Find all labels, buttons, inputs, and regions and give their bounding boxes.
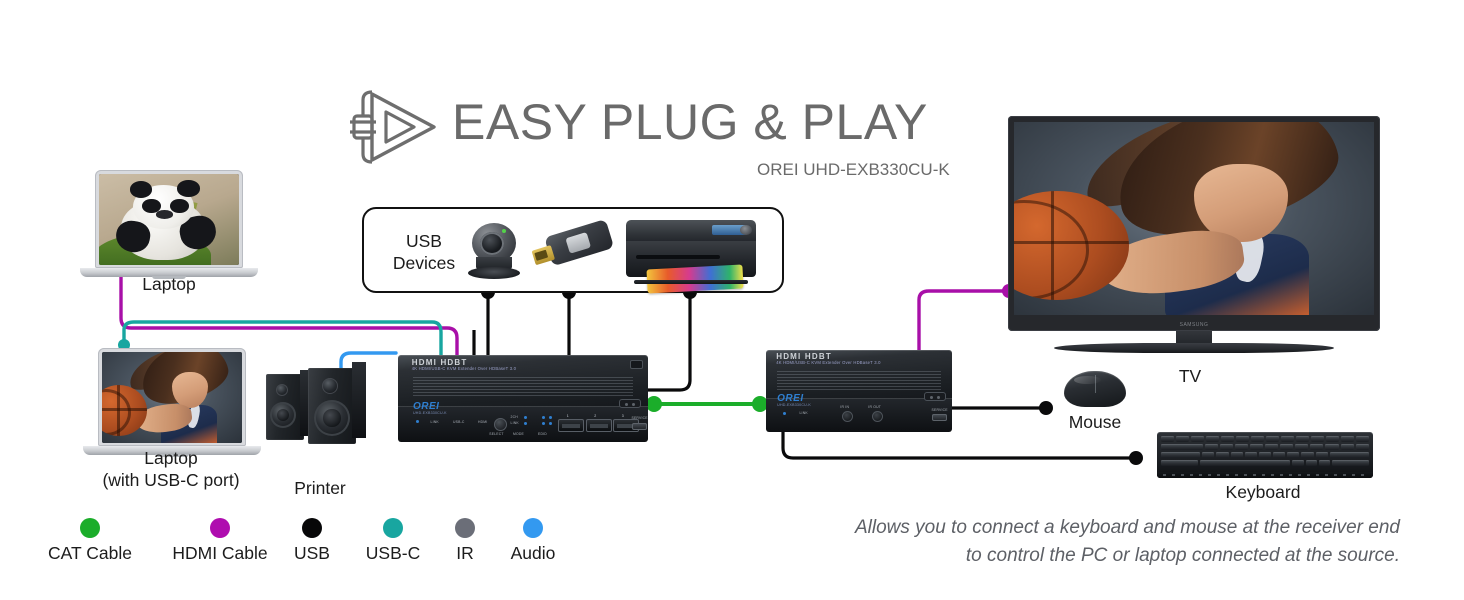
receiver-ir-in-jack[interactable] [842,411,853,422]
transmitter-usb3-number: 3 [622,414,624,418]
page-subtitle: OREI UHD-EXB330CU-K [757,160,950,180]
usb-devices-group: USB Devices [362,207,784,293]
diagram-canvas: EASY PLUG & PLAY OREI UHD-EXB330CU-K [0,0,1464,600]
transmitter-usb-port-2[interactable] [586,419,612,432]
transmitter-label-linkmode: LINK [511,421,519,425]
receiver-brand-model: UHD-EXB330CU-K [777,403,811,407]
laptop-icon-usbc [98,348,246,456]
transmitter-usb-port-1[interactable] [558,419,584,432]
receiver-model-line: 4K HDMI/USB-C KVM Extender Over HDBaseT … [776,360,880,365]
laptop-usbc-label-line2: (with USB-C port) [80,470,262,492]
legend-label-cat-cable: CAT Cable [20,543,160,564]
legend: CAT Cable HDMI Cable USB USB-C IR Audio [20,518,580,574]
legend-item-cat-cable: CAT Cable [20,518,160,564]
transmitter-label-power [412,426,413,430]
laptop-top-screen-image [99,174,239,265]
receiver-device: HDMI HDBT 4K HDMI/USB-C KVM Extender Ove… [766,350,952,430]
footnote: Allows you to connect a keyboard and mou… [690,514,1400,569]
usb-flash-drive-icon [529,217,621,275]
webcam-icon [466,223,522,281]
legend-dot-audio [523,518,543,538]
usb-devices-label-line2: Devices [382,253,466,275]
transmitter-model-line: 4K HDMI/USB-C KVM Extender Over HDBaseT … [412,366,516,371]
transmitter-badge [630,360,643,369]
tv-screen-image [1014,122,1374,315]
keyboard-icon [1157,432,1373,478]
legend-dot-usb [302,518,322,538]
tv-label: TV [1130,366,1250,388]
mouse-label: Mouse [1038,412,1152,434]
receiver-label-ir-in: IR IN [840,405,849,409]
receiver-label-link: LINK [799,411,807,415]
transmitter-usb2-number: 2 [594,414,596,418]
play-plug-icon [348,88,440,171]
keyboard-label: Keyboard [1200,482,1326,504]
transmitter-label-select: SELECT [489,432,503,436]
page-title: EASY PLUG & PLAY [452,93,928,151]
legend-item-audio: Audio [478,518,588,564]
transmitter-label-mode: MODE [513,432,524,436]
speakers-icon [266,362,374,444]
transmitter-label-hdmi: HDMI [478,420,487,424]
footnote-line2: to control the PC or laptop connected at… [690,542,1400,570]
mouse-icon [1064,371,1126,407]
transmitter-device: HDMI HDBT 4K HDMI/USB-C KVM Extender Ove… [398,355,648,440]
legend-dot-cat-cable [80,518,100,538]
laptop-icon-top [95,170,243,278]
transmitter-label-service: SERVICE [632,416,648,420]
tv-brand-mark: SAMSUNG [1180,322,1209,328]
transmitter-usb1-number: 1 [567,414,569,418]
laptop-top-label: Laptop [96,274,242,296]
transmitter-label-2ch: 2CH [511,415,518,419]
legend-label-audio: Audio [478,543,588,564]
receiver-ir-out-jack[interactable] [872,411,883,422]
speakers-label: Printer [256,478,384,500]
receiver-service-port[interactable] [932,414,947,421]
transmitter-brand-model: UHD-EXB330CU-K [413,411,447,415]
transmitter-label-usbc: USB-C [453,420,465,424]
usb-devices-label-line1: USB [382,231,466,253]
transmitter-label-link: LINK [431,420,439,424]
footnote-line1: Allows you to connect a keyboard and mou… [690,514,1400,542]
receiver-ir-window [924,392,946,401]
transmitter-ir-window [619,399,641,408]
legend-dot-ir [455,518,475,538]
legend-dot-hdmi-cable [210,518,230,538]
tv-stand [1008,331,1380,359]
legend-dot-usb-c [383,518,403,538]
laptop-usbc-screen-image [102,352,242,443]
laptop-usbc-label: Laptop (with USB-C port) [80,448,262,492]
laptop-usbc-label-line1: Laptop [80,448,262,470]
printer-icon [626,220,756,282]
usb-devices-label: USB Devices [382,231,466,275]
receiver-label-service: SERVICE [932,408,948,412]
transmitter-service-port[interactable] [632,423,647,430]
transmitter-label-edid: EDID [538,432,547,436]
receiver-label-ir-out: IR OUT [868,405,881,409]
television-icon: SAMSUNG [1008,116,1380,331]
